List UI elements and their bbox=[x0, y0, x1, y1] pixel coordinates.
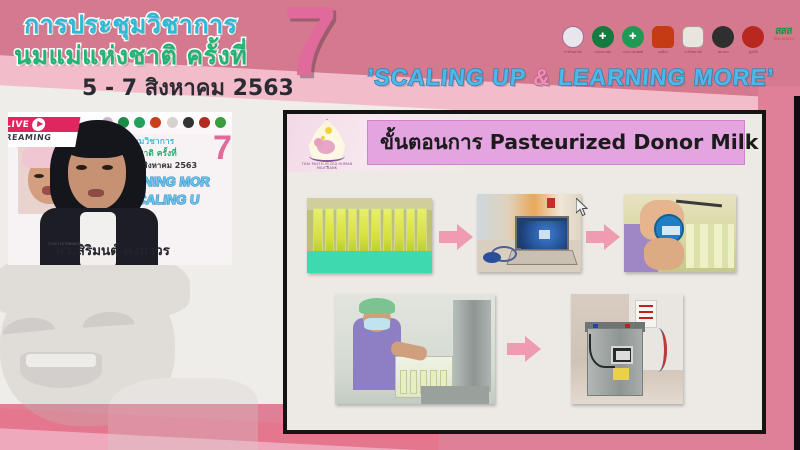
royal-patronage-logo: ราชวิทยาลัย bbox=[560, 26, 585, 54]
live-streaming-badge: LIVE STREAMING bbox=[8, 115, 81, 147]
mouse-cursor-icon bbox=[576, 198, 590, 218]
slide-right-black-edge bbox=[794, 96, 800, 450]
photo-laptop-records bbox=[477, 194, 581, 272]
play-icon bbox=[32, 118, 46, 131]
photo-bottles-on-pallet bbox=[307, 198, 432, 273]
tagline-part1: ’SCALING UP bbox=[366, 64, 534, 90]
hands-icon bbox=[309, 150, 345, 162]
live-badge-row: LIVE bbox=[8, 117, 81, 132]
tagline-part2: LEARNING MORE’ bbox=[550, 64, 776, 90]
live-label: LIVE bbox=[8, 120, 30, 130]
slide-title-banner: ขั้นตอนการ Pasteurized Donor Milk bbox=[367, 120, 745, 165]
screenshot-stage: การประชุมวิชาการ นมแม่แห่งชาติ ครั้งที่ … bbox=[0, 0, 800, 450]
red-emblem-logo: องค์กร bbox=[650, 26, 675, 54]
health-dept-logo: ✚กรมการแพทย์ bbox=[620, 26, 645, 54]
process-arrow-2 bbox=[586, 224, 620, 250]
presentation-slide[interactable]: THAI PASTEURIZED HUMAN MILK BANK ขั้นตอน… bbox=[283, 110, 766, 434]
organization-logo-strip: ราชวิทยาลัย ✚กรมอนามัย ✚กรมการแพทย์ องค์… bbox=[560, 26, 796, 66]
logo-caption-text: THAI PASTEURIZED HUMAN MILK BANK bbox=[301, 162, 353, 170]
edition-number: 7 bbox=[283, 0, 338, 90]
process-arrow-1 bbox=[439, 224, 473, 250]
streaming-label: STREAMING bbox=[8, 133, 52, 142]
conference-date: 5 - 7 สิงหาคม 2563 bbox=[82, 70, 294, 105]
photo-pasteurizer-machine bbox=[571, 294, 683, 404]
slide-header: THAI PASTEURIZED HUMAN MILK BANK ขั้นตอน… bbox=[287, 114, 762, 172]
ministry-green-logo: ✚กรมอนามัย bbox=[590, 26, 615, 54]
baby-watermark-image bbox=[0, 248, 260, 438]
photo-thermometer-check bbox=[624, 194, 736, 272]
process-arrow-3 bbox=[507, 336, 541, 362]
conference-tagline: ’SCALING UP & LEARNING MORE’ bbox=[366, 64, 775, 91]
black-emblem-logo: สมาคม bbox=[711, 26, 736, 54]
human-milk-bank-logo: THAI PASTEURIZED HUMAN MILK BANK bbox=[301, 118, 353, 170]
crimson-emblem-logo: มูลนิธิ bbox=[741, 26, 766, 54]
slide-title-text: ขั้นตอนการ Pasteurized Donor Milk bbox=[380, 126, 758, 159]
thaihealth-logo: สสสTHAI HEALTH bbox=[771, 26, 796, 41]
video-overlay-edition-number: 7 bbox=[213, 131, 232, 165]
royal-crest-logo: ราชวิทยาลัย bbox=[681, 26, 706, 54]
speaker-name-caption: พว.สิริมนต์ คงถาวร bbox=[55, 239, 170, 261]
photo-nurse-loading-machine bbox=[335, 294, 495, 404]
